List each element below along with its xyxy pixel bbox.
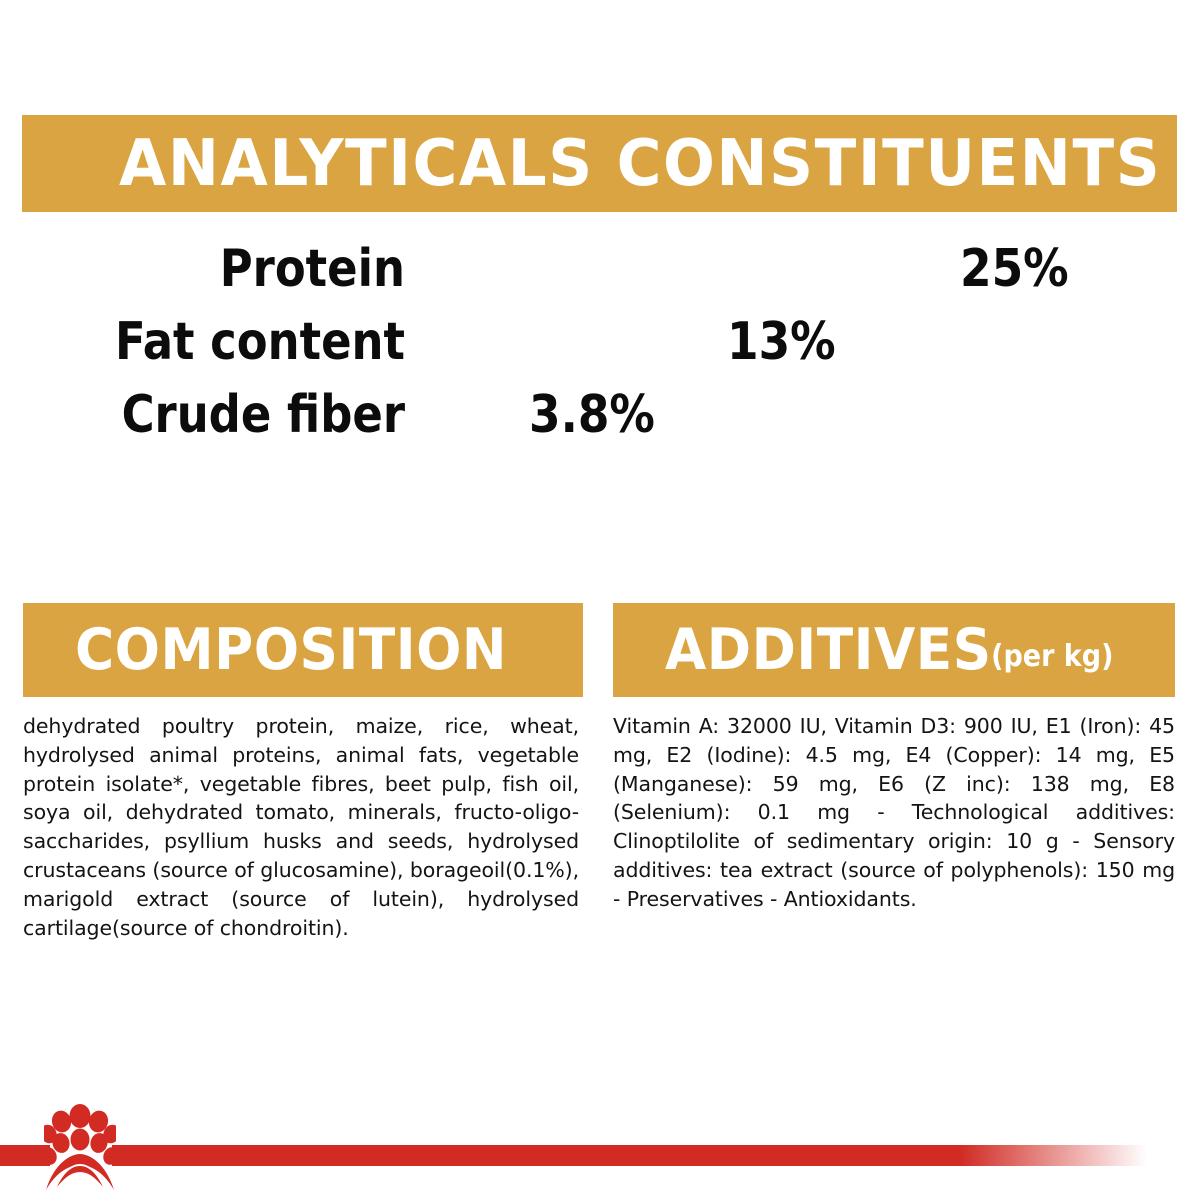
footer-brand-bar bbox=[0, 1128, 1200, 1200]
additives-header: ADDITIVES (per kg) bbox=[613, 603, 1175, 697]
analytical-constituents-chart: Protein 25% Fat content 13% Crude fiber … bbox=[0, 232, 1200, 452]
bar-value-protein: 25% bbox=[960, 237, 1069, 301]
bar-value-fat-content: 13% bbox=[727, 310, 836, 374]
nutrition-panel-page: ANALYTICALS CONSTITUENTS Protein 25% Fat… bbox=[0, 0, 1200, 1200]
chart-row-protein: Protein 25% bbox=[0, 237, 1200, 301]
additives-heading: ADDITIVES bbox=[665, 622, 992, 679]
chart-row-crude-fiber: Crude fiber 3.8% bbox=[0, 383, 1200, 447]
royal-canin-crown-icon bbox=[44, 1094, 116, 1194]
brand-rule-left bbox=[0, 1145, 50, 1166]
brand-rule-right bbox=[112, 1145, 1147, 1166]
page-title: ANALYTICALS CONSTITUENTS bbox=[119, 132, 1161, 196]
composition-heading: COMPOSITION bbox=[75, 622, 507, 679]
chart-row-fat-content: Fat content 13% bbox=[0, 310, 1200, 374]
composition-header: COMPOSITION bbox=[23, 603, 583, 697]
bar-label-crude-fiber: Crude fiber bbox=[74, 383, 405, 447]
additives-heading-suffix: (per kg) bbox=[991, 642, 1113, 672]
bar-value-crude-fiber: 3.8% bbox=[529, 383, 655, 447]
bar-label-protein: Protein bbox=[74, 237, 405, 301]
composition-text: dehydrated poultry protein, maize, rice,… bbox=[23, 712, 579, 942]
additives-text: Vitamin A: 32000 IU, Vitamin D3: 900 IU,… bbox=[613, 712, 1175, 914]
bar-label-fat-content: Fat content bbox=[74, 310, 405, 374]
analyticals-constituents-header: ANALYTICALS CONSTITUENTS bbox=[22, 115, 1177, 212]
additives-panel: ADDITIVES (per kg) Vitamin A: 32000 IU, … bbox=[613, 603, 1175, 914]
composition-panel: COMPOSITION dehydrated poultry protein, … bbox=[23, 603, 583, 942]
